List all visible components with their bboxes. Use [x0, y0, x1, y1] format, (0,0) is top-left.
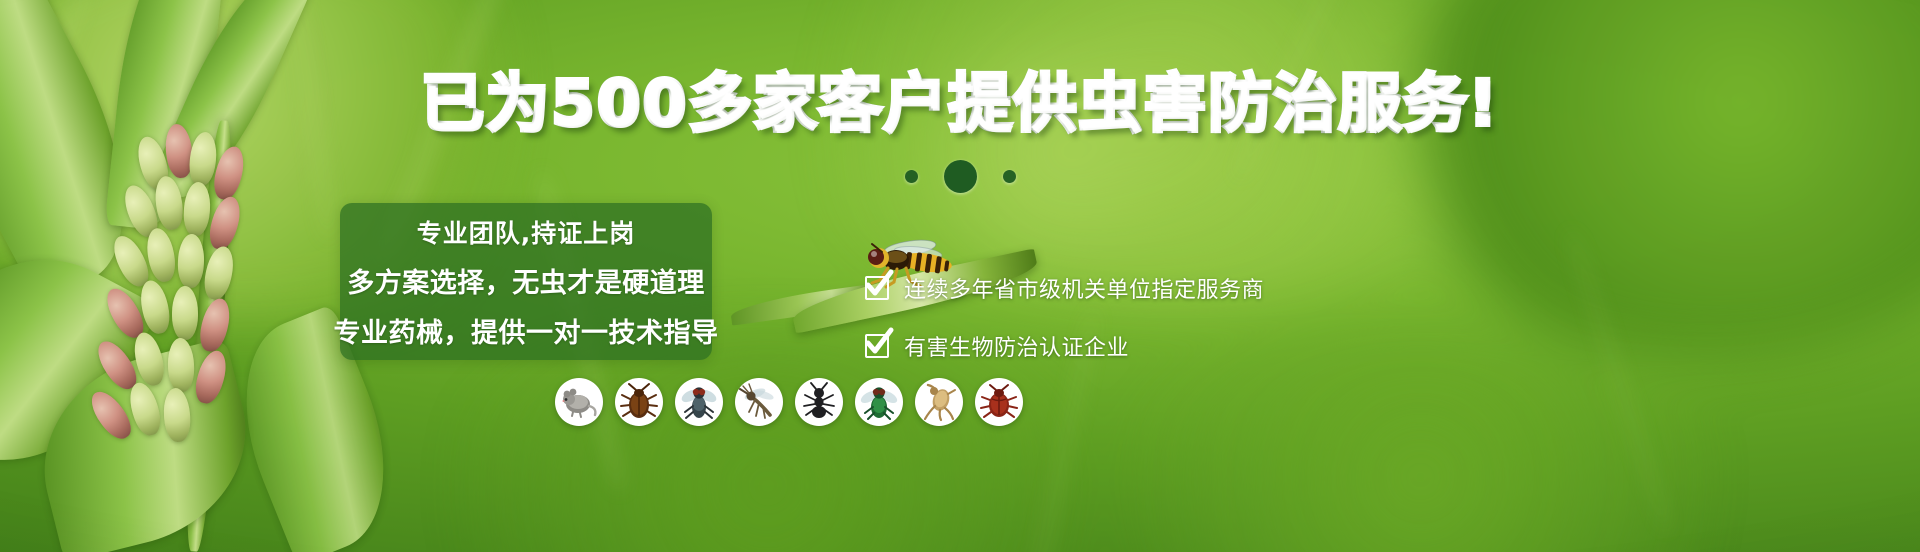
blowfly-icon[interactable]	[855, 378, 903, 426]
dot-small-right	[1003, 170, 1016, 183]
feature-panel: 专业团队,持证上岗 多方案选择，无虫才是硬道理 专业药械，提供一对一技术指导	[340, 203, 712, 360]
rat-icon[interactable]	[555, 378, 603, 426]
bedbug-icon[interactable]	[975, 378, 1023, 426]
dot-large-center	[944, 160, 977, 193]
feature-line-1: 专业团队,持证上岗	[417, 214, 636, 250]
decorative-dots	[0, 160, 1920, 193]
checkbox-check-icon	[865, 276, 889, 300]
flea-icon[interactable]	[915, 378, 963, 426]
list-item: 有害生物防治认证企业	[865, 330, 1264, 362]
mosquito-icon[interactable]	[735, 378, 783, 426]
feature-line-3: 专业药械，提供一对一技术指导	[334, 311, 719, 350]
checkbox-check-icon	[865, 334, 889, 358]
credential-text: 连续多年省市级机关单位指定服务商	[904, 272, 1264, 304]
cockroach-icon[interactable]	[615, 378, 663, 426]
dot-small-left	[905, 170, 918, 183]
headline-text: 已为500多家客户提供虫害防治服务!	[421, 67, 1499, 140]
credential-text: 有害生物防治认证企业	[904, 330, 1129, 362]
list-item: 连续多年省市级机关单位指定服务商	[865, 272, 1264, 304]
ant-icon[interactable]	[795, 378, 843, 426]
promo-banner: 已为500多家客户提供虫害防治服务! 专业团队,持证上岗 多方案选择，无虫才是硬…	[0, 0, 1920, 552]
feature-line-2: 多方案选择，无虫才是硬道理	[347, 261, 705, 300]
pest-icon-row	[555, 378, 1023, 426]
housefly-icon[interactable]	[675, 378, 723, 426]
page-title: 已为500多家客户提供虫害防治服务!	[0, 72, 1920, 135]
credentials-list: 连续多年省市级机关单位指定服务商 有害生物防治认证企业	[865, 272, 1264, 362]
